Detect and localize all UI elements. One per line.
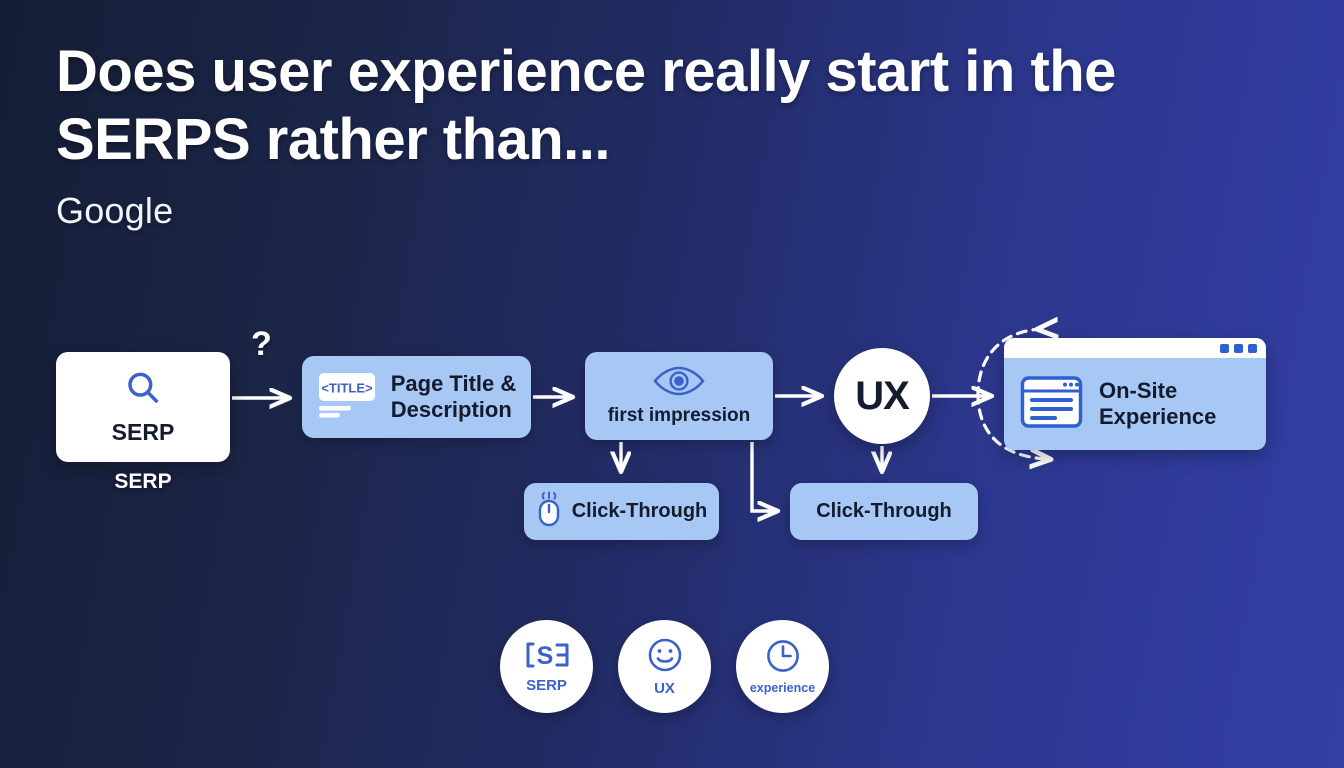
search-icon <box>123 368 163 413</box>
window-card: On-Site Experience <box>1004 338 1266 450</box>
serp-node[interactable]: SERP <box>56 352 230 462</box>
badge-ux[interactable]: UX <box>618 620 711 713</box>
click-through-node-2[interactable]: Click-Through <box>790 483 978 540</box>
eye-icon <box>652 366 706 401</box>
window-dot-1 <box>1220 344 1229 353</box>
serp-bracket-icon: S <box>523 640 571 675</box>
badge-experience-label: experience <box>750 681 815 695</box>
click-through-label-2: Click-Through <box>816 500 952 523</box>
click-through-label-1: Click-Through <box>572 500 708 523</box>
first-impression-label: first impression <box>608 405 751 427</box>
svg-text:S: S <box>536 642 553 670</box>
window-body: On-Site Experience <box>1004 358 1266 450</box>
serp-node-caption: SERP <box>56 470 230 494</box>
badge-ux-label: UX <box>654 680 675 697</box>
page-title-description-node[interactable]: <TITLE> Page Title & Description <box>302 356 531 438</box>
ux-node-label: UX <box>855 374 909 419</box>
clock-icon <box>765 638 801 679</box>
smiley-icon <box>647 637 683 678</box>
badge-serp[interactable]: S SERP <box>500 620 593 713</box>
onsite-line2: Experience <box>1099 404 1216 429</box>
window-dot-2 <box>1234 344 1243 353</box>
browser-window-icon <box>1020 374 1083 435</box>
page-title-line1: Page Title & <box>391 371 517 396</box>
question-mark-annotation: ? <box>251 325 272 364</box>
onsite-experience-node[interactable]: On-Site Experience <box>1004 338 1266 450</box>
page-title-description-label: Page Title & Description <box>391 371 517 423</box>
first-impression-node[interactable]: first impression <box>585 352 773 440</box>
ux-node[interactable]: UX <box>834 348 930 444</box>
click-through-node-1[interactable]: Click-Through <box>524 483 719 540</box>
window-dot-3 <box>1248 344 1257 353</box>
window-title-bar <box>1004 338 1266 358</box>
badge-serp-label: SERP <box>526 677 567 694</box>
badge-row: S SERP UX experience <box>500 620 829 713</box>
onsite-experience-label: On-Site Experience <box>1099 378 1216 431</box>
title-tag-icon: <TITLE> <box>317 370 379 425</box>
page-title-line2: Description <box>391 397 512 422</box>
mouse-click-icon <box>536 491 562 532</box>
badge-experience[interactable]: experience <box>736 620 829 713</box>
onsite-line1: On-Site <box>1099 378 1177 403</box>
svg-text:<TITLE>: <TITLE> <box>321 380 373 395</box>
serp-node-label: SERP <box>112 419 175 446</box>
